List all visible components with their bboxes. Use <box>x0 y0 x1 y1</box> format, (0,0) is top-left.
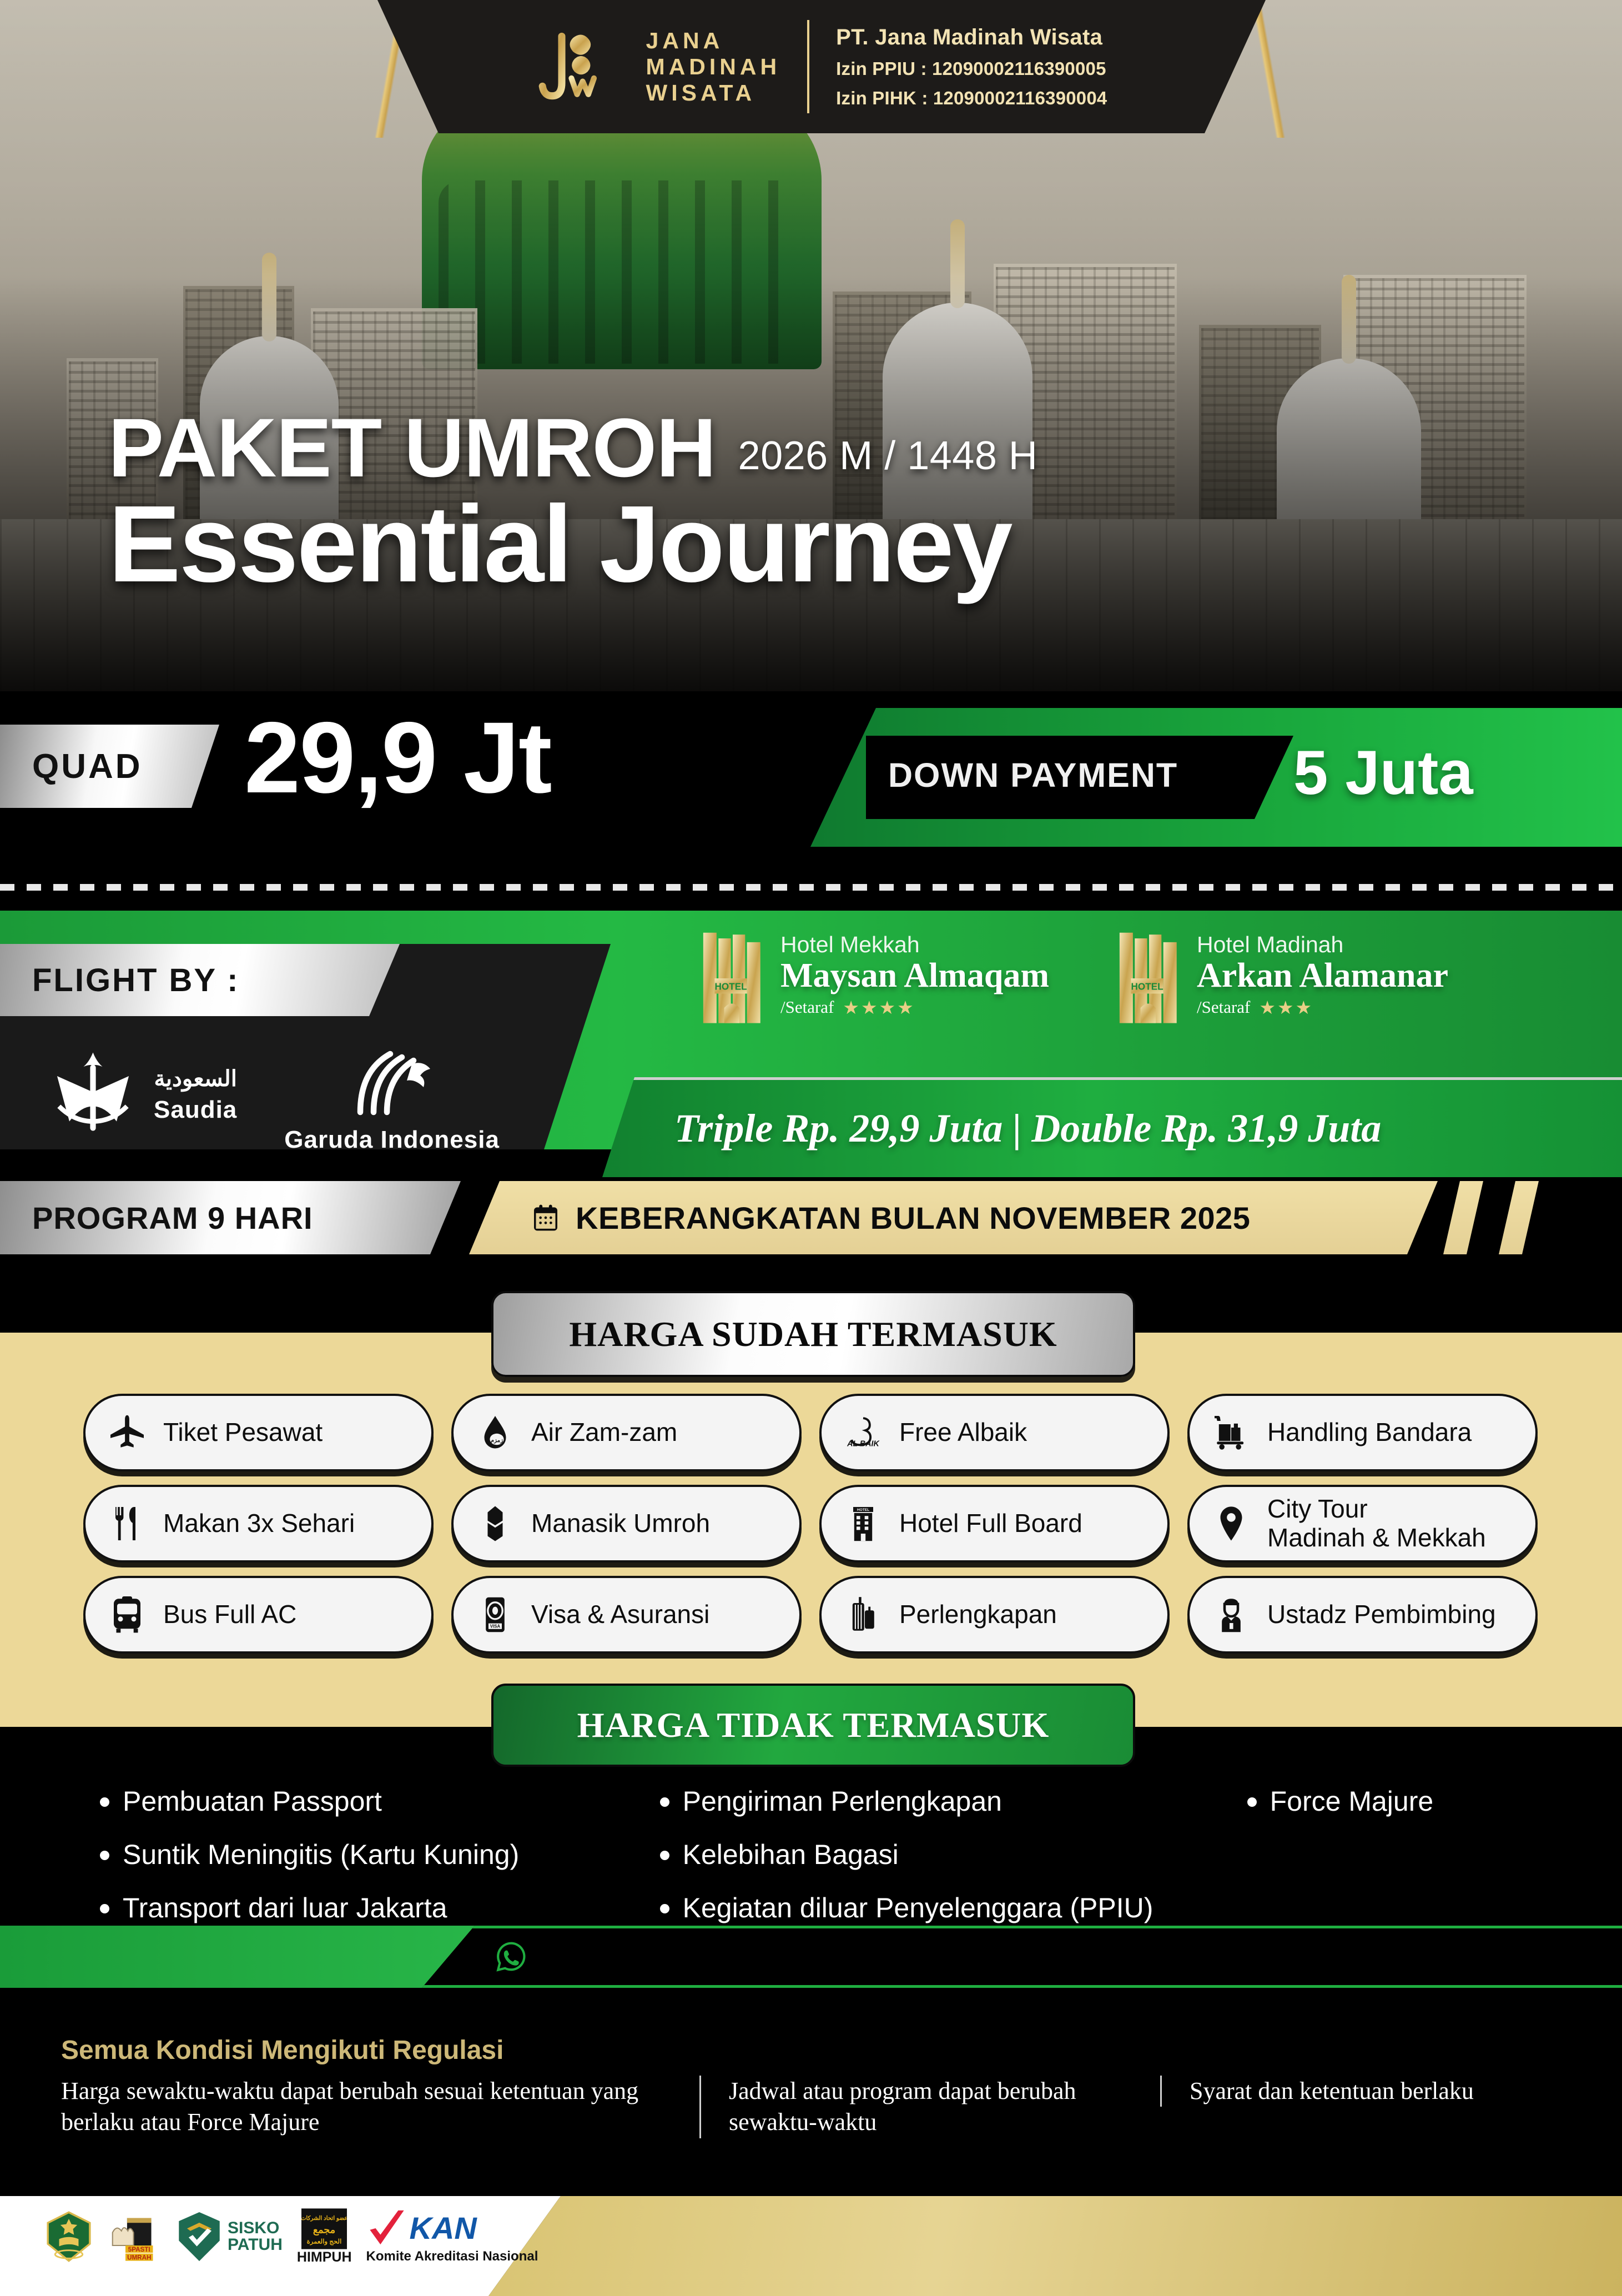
logo-line-3: WISATA <box>646 82 781 104</box>
dashed-divider <box>0 884 1622 891</box>
svg-text:HOTEL: HOTEL <box>1131 981 1163 992</box>
himpuh-logo-icon: عضو اتحاد الشركات مجمع الحج والعمرة <box>301 2208 347 2249</box>
decor-slash <box>1499 1181 1539 1254</box>
exclusion-item: Force Majure <box>1247 1785 1554 1817</box>
inclusion-label: Tiket Pesawat <box>163 1418 323 1447</box>
company-name: PT. Jana Madinah Wisata <box>836 25 1107 50</box>
room-type-label: QUAD <box>0 747 143 786</box>
logo-line-1: JANA <box>646 29 781 52</box>
kemenag-logo-icon <box>44 2210 93 2263</box>
inclusion-label: Visa & Asuransi <box>531 1600 709 1629</box>
terms-heading: Semua Kondisi Mengikuti Regulasi <box>61 2035 1571 2066</box>
svg-text:AL BAIK: AL BAIK <box>847 1440 880 1449</box>
suitcases-icon <box>840 1592 886 1637</box>
exclusion-item: Pembuatan Passport <box>100 1785 627 1817</box>
exclusion-label: Pengiriman Perlengkapan <box>683 1785 1002 1817</box>
inclusion-item: AL BAIK Free Albaik <box>819 1394 1170 1471</box>
hotel-star-rating: ★★★★ <box>843 997 915 1018</box>
exclusion-item: Pengiriman Perlengkapan <box>660 1785 1214 1817</box>
airline-saudia: السعودية Saudia <box>44 1048 237 1142</box>
inclusions-heading: HARGA SUDAH TERMASUK <box>491 1291 1135 1377</box>
inclusion-label: Ustadz Pembimbing <box>1267 1600 1496 1629</box>
exclusion-label: Kegiatan diluar Penyelenggara (PPIU) <box>683 1892 1153 1924</box>
hotel-building-icon: HOTEL <box>1116 925 1182 1025</box>
airline-logos: السعودية Saudia Garuda Indonesia <box>44 1036 500 1154</box>
terms-column: Jadwal atau program dapat berubah sewakt… <box>699 2076 1160 2138</box>
inclusion-item: Handling Bandara <box>1187 1394 1538 1471</box>
svg-text:HOTEL: HOTEL <box>857 1508 869 1512</box>
hotel-setaraf-label: /Setaraf <box>780 997 834 1017</box>
inclusion-label: Perlengkapan <box>899 1600 1057 1629</box>
bullet-icon <box>100 1851 109 1860</box>
flight-by-tag: FLIGHT BY : <box>0 944 400 1016</box>
inclusion-item: Ustadz Pembimbing <box>1187 1576 1538 1654</box>
bullet-icon <box>100 1904 109 1913</box>
inclusion-label: Air Zam-zam <box>531 1418 677 1447</box>
water-drop-icon: زمزم <box>472 1410 518 1455</box>
inclusion-item: Bus Full AC <box>83 1576 434 1654</box>
garuda-bird-icon <box>342 1036 442 1119</box>
bus-icon <box>104 1592 150 1637</box>
whatsapp-bar[interactable] <box>422 1926 1622 1988</box>
hotel-city: Hotel Madinah <box>1197 932 1448 958</box>
kaaba-icon <box>472 1501 518 1546</box>
hotel-star-rating: ★★★ <box>1259 997 1313 1018</box>
hotel-building-icon: HOTEL <box>699 925 766 1025</box>
logo-line-2: MADINAH <box>646 56 781 78</box>
airline-name-arabic: السعودية <box>154 1066 237 1092</box>
package-name: Essential Journey <box>108 490 1037 599</box>
price-band: QUAD 29,9 Jt DOWN PAYMENT 5 Juta <box>0 691 1622 887</box>
svg-text:UMRAH: UMRAH <box>127 2254 151 2261</box>
terms-section: Semua Kondisi Mengikuti Regulasi Harga s… <box>61 2035 1571 2138</box>
departure-tag: KEBERANGKATAN BULAN NOVEMBER 2025 <box>469 1181 1438 1254</box>
cert-label: PATUH <box>228 2237 283 2253</box>
map-pin-icon <box>1208 1501 1254 1546</box>
airline-garuda: Garuda Indonesia <box>284 1036 500 1154</box>
down-payment-label: DOWN PAYMENT <box>888 756 1178 795</box>
inclusion-item: Tiket Pesawat <box>83 1394 434 1471</box>
airline-name: Garuda Indonesia <box>284 1126 500 1154</box>
inclusion-item: HOTEL Hotel Full Board <box>819 1485 1170 1563</box>
inclusions-grid: Tiket Pesawat زمزم Air Zam-zam AL BAIK F… <box>83 1394 1538 1654</box>
inclusion-item: VISA Visa & Asuransi <box>451 1576 802 1654</box>
exclusions-heading-label: HARGA TIDAK TERMASUK <box>577 1705 1050 1746</box>
inclusion-label: Manasik Umroh <box>531 1509 710 1538</box>
kan-wordmark: KAN <box>410 2215 477 2242</box>
exclusion-item: Kegiatan diluar Penyelenggara (PPIU) <box>660 1892 1214 1924</box>
bullet-icon <box>660 1851 669 1860</box>
inclusion-label: Free Albaik <box>899 1418 1027 1447</box>
exclusion-item: Transport dari luar Jakarta <box>100 1892 627 1924</box>
visa-card-icon: VISA <box>472 1592 518 1637</box>
5pasti-umrah-logo-icon: 5PASTI UMRAH <box>108 2210 161 2263</box>
terms-column: Syarat dan ketentuan berlaku <box>1160 2076 1504 2107</box>
exclusion-label: Transport dari luar Jakarta <box>123 1892 447 1924</box>
terms-column: Harga sewaktu-waktu dapat berubah sesuai… <box>61 2076 699 2138</box>
izin-pihk: Izin PIHK : 12090002116390004 <box>836 88 1107 109</box>
room-type-tag: QUAD <box>0 725 219 808</box>
exclusion-item: Suntik Meningitis (Kartu Kuning) <box>100 1838 627 1871</box>
flight-by-label: FLIGHT BY : <box>0 962 239 999</box>
izin-ppiu: Izin PPIU : 12090002116390005 <box>836 58 1107 79</box>
inclusion-item: City Tour Madinah & Mekkah <box>1187 1485 1538 1563</box>
exclusions-heading: HARGA TIDAK TERMASUK <box>491 1684 1135 1767</box>
bullet-icon <box>1247 1797 1257 1807</box>
exclusion-label: Pembuatan Passport <box>123 1785 382 1817</box>
package-price: 29,9 Jt <box>244 699 551 816</box>
hotel-mekkah: HOTEL Hotel Mekkah Maysan Almaqam /Setar… <box>699 925 1049 1025</box>
inclusion-label: City Tour Madinah & Mekkah <box>1267 1495 1486 1552</box>
inclusion-item: Manasik Umroh <box>451 1485 802 1563</box>
svg-text:زمزم: زمزم <box>491 1438 503 1444</box>
inclusion-label: Bus Full AC <box>163 1600 296 1629</box>
program-duration-tag: PROGRAM 9 HARI <box>0 1181 461 1254</box>
airplane-icon <box>104 1410 150 1455</box>
certification-footer: 5PASTI UMRAH SISKO PATUH عضو اتحاد الشرك… <box>0 2196 1622 2296</box>
albaik-logo-icon: AL BAIK <box>840 1410 886 1455</box>
header-divider <box>807 20 809 113</box>
fork-knife-icon <box>104 1501 150 1546</box>
page-title: PAKET UMROH <box>108 408 716 488</box>
decor-slash <box>1443 1181 1483 1254</box>
hotel-city: Hotel Mekkah <box>780 932 1049 958</box>
inclusion-item: زمزم Air Zam-zam <box>451 1394 802 1471</box>
departure-label: KEBERANGKATAN BULAN NOVEMBER 2025 <box>576 1200 1250 1236</box>
svg-text:عضو اتحاد الشركات: عضو اتحاد الشركات <box>301 2215 347 2222</box>
svg-text:الحج والعمرة: الحج والعمرة <box>307 2238 342 2245</box>
hotel-name: Arkan Alamanar <box>1197 958 1448 994</box>
svg-text:VISA: VISA <box>490 1624 501 1629</box>
hotel-list: HOTEL Hotel Mekkah Maysan Almaqam /Setar… <box>699 925 1610 1025</box>
program-duration-label: PROGRAM 9 HARI <box>0 1200 313 1236</box>
inclusion-label: Handling Bandara <box>1267 1418 1472 1447</box>
exclusions-list: Pembuatan Passport Suntik Meningitis (Ka… <box>100 1785 1554 1924</box>
siskopatuh-logo-icon <box>175 2210 223 2263</box>
bullet-icon <box>660 1904 669 1913</box>
exclusion-label: Kelebihan Bagasi <box>683 1838 899 1871</box>
down-payment-amount: 5 Juta <box>1293 737 1473 808</box>
inclusion-label: Makan 3x Sehari <box>163 1509 355 1538</box>
program-band: PROGRAM 9 HARI KEBERANGKATAN BULAN NOVEM… <box>0 1178 1622 1259</box>
exclusion-item: Kelebihan Bagasi <box>660 1838 1214 1871</box>
cert-5pasti: 5PASTI UMRAH <box>108 2210 161 2263</box>
cert-label: HIMPUH <box>297 2250 352 2264</box>
kan-checkmark-icon <box>366 2209 407 2248</box>
whatsapp-icon[interactable] <box>494 1940 528 1974</box>
exclusion-label: Suntik Meningitis (Kartu Kuning) <box>123 1838 519 1871</box>
inclusion-label: Hotel Full Board <box>899 1509 1082 1538</box>
bullet-icon <box>100 1797 109 1807</box>
flight-hotel-band: FLIGHT BY : السعودية Saudia <box>0 911 1622 1188</box>
title-year: 2026 M / 1448 H <box>738 433 1038 488</box>
room-price-bar: Triple Rp. 29,9 Juta | Double Rp. 31,9 J… <box>602 1077 1622 1177</box>
poster-title-block: PAKET UMROH 2026 M / 1448 H Essential Jo… <box>108 408 1037 599</box>
luggage-cart-icon <box>1208 1410 1254 1455</box>
exclusion-label: Force Majure <box>1270 1785 1434 1817</box>
cert-label: Komite Akreditasi Nasional <box>366 2249 538 2264</box>
svg-text:HOTEL: HOTEL <box>715 981 747 992</box>
svg-text:مجمع: مجمع <box>313 2224 335 2235</box>
cert-gold-plate <box>488 2196 1622 2296</box>
inclusions-heading-label: HARGA SUDAH TERMASUK <box>569 1314 1057 1355</box>
saudia-palm-swords-icon <box>44 1048 142 1142</box>
bullet-icon <box>660 1797 669 1807</box>
company-header-plate: JANA MADINAH WISATA PT. Jana Madinah Wis… <box>377 0 1266 133</box>
calendar-icon <box>530 1202 561 1234</box>
jmw-monogram-icon <box>536 27 619 107</box>
hotel-name: Maysan Almaqam <box>780 958 1049 994</box>
inclusion-item: Makan 3x Sehari <box>83 1485 434 1563</box>
hotel-setaraf-label: /Setaraf <box>1197 997 1250 1017</box>
cert-kemenag <box>44 2210 93 2263</box>
svg-text:5PASTI: 5PASTI <box>128 2245 150 2253</box>
logo-wordmark: JANA MADINAH WISATA <box>646 29 781 104</box>
cert-siskopatuh: SISKO PATUH <box>175 2210 283 2263</box>
cert-himpuh: عضو اتحاد الشركات مجمع الحج والعمرة HIMP… <box>297 2208 352 2264</box>
cert-kan: KAN Komite Akreditasi Nasional <box>366 2209 538 2264</box>
hotel-icon: HOTEL <box>840 1501 886 1546</box>
room-price-text: Triple Rp. 29,9 Juta | Double Rp. 31,9 J… <box>602 1106 1381 1152</box>
inclusion-item: Perlengkapan <box>819 1576 1170 1654</box>
airline-name: Saudia <box>154 1096 237 1124</box>
hotel-madinah: HOTEL Hotel Madinah Arkan Alamanar /Seta… <box>1116 925 1448 1025</box>
cert-label: SISKO <box>228 2220 283 2237</box>
person-guide-icon <box>1208 1592 1254 1637</box>
